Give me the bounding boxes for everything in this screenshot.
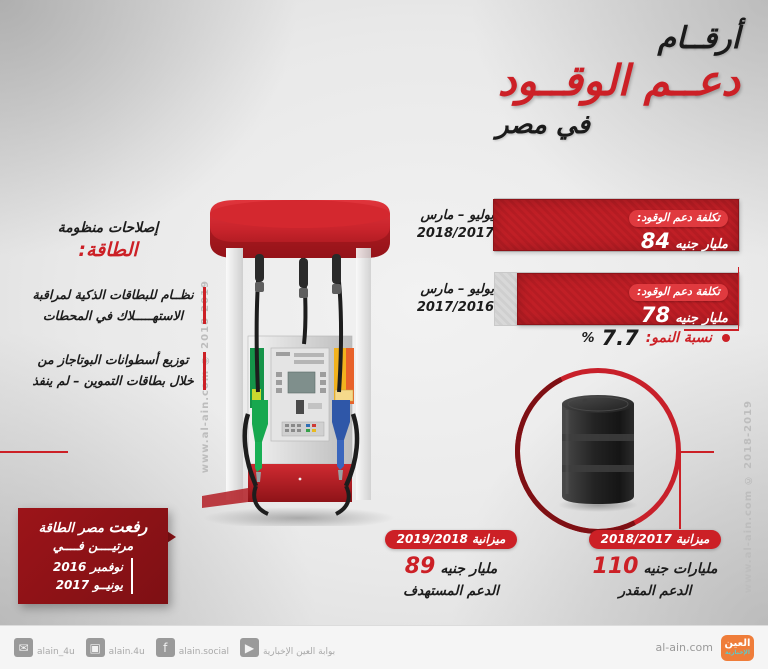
callout-date-1: نوفمبر 2016 [53, 558, 123, 576]
bar-value: 84 [641, 229, 670, 253]
callout-line-2: مرتيــــن فــــي [30, 538, 156, 553]
social-link-twitter[interactable]: ✉ alain_4u [14, 638, 75, 657]
figure-badge: ميزانية 2019/2018 [385, 530, 518, 549]
logo-sub-text: الإخبارية [725, 650, 750, 656]
brand-block: al-ain.com العين الإخبارية [655, 635, 754, 661]
growth-label: نسبة النمو: [646, 330, 712, 346]
circle-connector-right-horizontal [679, 451, 714, 453]
fuel-pump-illustration [196, 196, 402, 526]
title-line-2: دعــم الوقــود [496, 60, 740, 102]
bar-value-group: مليار جنيه 84 [494, 229, 728, 253]
growth-rate-group: نسبة النمو: 7.7 % [581, 326, 730, 350]
bar-period-months: يوليو – مارس [398, 207, 494, 225]
al-ain-logo[interactable]: العين الإخبارية [721, 635, 754, 661]
bar-fill: تكلفة دعم الوقود: مليار جنيه 78 [517, 273, 739, 325]
figure-value-group: مليار جنيه 89 [356, 554, 546, 579]
growth-value: 7.7 [602, 326, 639, 350]
callout-date-2: يونيــو 2017 [53, 576, 123, 594]
energy-reforms-sidebar: إصلاحات منظومة الطاقة: نظــام للبطاقات ا… [18, 220, 198, 392]
social-handle: alain.social [179, 647, 229, 657]
infographic-canvas: أرقــام دعــم الوقــود في مصر [0, 0, 768, 669]
figure-badge: ميزانية 2018/2017 [589, 530, 722, 549]
logo-main-text: العين [725, 639, 751, 649]
youtube-icon: ▶ [240, 638, 259, 657]
bar-unit: مليار جنيه [675, 237, 728, 252]
title-line-3: في مصر [496, 112, 590, 138]
growth-percent-sign: % [581, 331, 594, 346]
social-link-instagram[interactable]: ▣ alain.4u [86, 638, 145, 657]
bar-caption: تكلفة دعم الوقود: [629, 284, 728, 301]
bar-value: 78 [641, 303, 670, 327]
circle-connector-left [0, 451, 68, 453]
budget-figure-estimated: ميزانية 2018/2017 مليارات جنيه 110 الدعم… [560, 528, 750, 599]
callout-dates: نوفمبر 2016 يونيــو 2017 [53, 558, 133, 594]
figure-unit: مليار جنيه [440, 561, 497, 577]
bar-value-group: مليار جنيه 78 [518, 303, 728, 327]
bar-period-years: 2017/2016 [398, 299, 494, 317]
bar-track: تكلفة دعم الوقود: مليار جنيه 84 [494, 198, 740, 252]
bar-period-months: يوليو – مارس [398, 281, 494, 299]
callout-line-1-rest: مصر الطاقة [39, 521, 104, 536]
instagram-icon: ▣ [86, 638, 105, 657]
site-url[interactable]: al-ain.com [655, 641, 713, 654]
figure-value-group: مليارات جنيه 110 [560, 554, 750, 579]
bar-track: تكلفة دعم الوقود: مليار جنيه 78 [494, 272, 740, 326]
price-increase-callout: رفعت مصر الطاقة مرتيــــن فــــي نوفمبر … [18, 508, 168, 604]
growth-connector-vertical [738, 267, 739, 329]
callout-line-1-strong: رفعت [109, 517, 148, 536]
figure-unit: مليارات جنيه [644, 561, 718, 577]
growth-dot-icon [722, 334, 730, 342]
social-handle: بوابة العين الإخبارية [263, 647, 335, 657]
callout-line-1: رفعت مصر الطاقة [30, 516, 156, 538]
figure-caption: الدعم المقدر [560, 583, 750, 599]
bar-unit: مليار جنيه [675, 311, 728, 326]
facebook-icon: f [156, 638, 175, 657]
social-handle: alain.4u [109, 647, 145, 657]
budget-figure-targeted: ميزانية 2019/2018 مليار جنيه 89 الدعم ال… [356, 528, 546, 599]
bar-period-label: يوليو – مارس 2018/2017 [398, 207, 494, 242]
sidebar-item-smart-cards: نظــام للبطاقات الذكية لمراقبة الاستهـــ… [18, 285, 198, 326]
sidebar-item-text: نظــام للبطاقات الذكية لمراقبة الاستهـــ… [28, 285, 198, 326]
sidebar-item-rule [203, 287, 206, 324]
oil-barrel-icon [555, 390, 641, 512]
sidebar-heading-top: إصلاحات منظومة [18, 220, 198, 236]
social-handle: alain_4u [37, 647, 75, 657]
figure-value: 89 [405, 554, 436, 579]
figure-value: 110 [593, 554, 639, 579]
oil-barrel-group [515, 368, 681, 534]
figure-caption: الدعم المستهدف [356, 583, 546, 599]
social-links: ✉ alain_4u ▣ alain.4u f alain.social ▶ ب… [14, 638, 335, 657]
bar-fill: تكلفة دعم الوقود: مليار جنيه 84 [493, 199, 739, 251]
social-link-facebook[interactable]: f alain.social [156, 638, 229, 657]
sidebar-item-rule [203, 352, 206, 389]
sidebar-heading-bottom: الطاقة: [18, 239, 198, 261]
bar-period-years: 2018/2017 [398, 225, 494, 243]
bar-period-label: يوليو – مارس 2017/2016 [398, 281, 494, 316]
title-line-1: أرقــام [496, 24, 740, 54]
footer-bar: ✉ alain_4u ▣ alain.4u f alain.social ▶ ب… [0, 625, 768, 669]
sidebar-item-butane-cylinders: توزيع أسطوانات البوتاجاز من خلال بطاقات … [18, 350, 198, 391]
twitter-icon: ✉ [14, 638, 33, 657]
bar-row: يوليو – مارس 2017/2016 تكلفة دعم الوقود:… [388, 272, 740, 326]
sidebar-item-text: توزيع أسطوانات البوتاجاز من خلال بطاقات … [28, 350, 198, 391]
bar-caption: تكلفة دعم الوقود: [629, 210, 728, 227]
bar-row: يوليو – مارس 2018/2017 تكلفة دعم الوقود:… [388, 198, 740, 252]
page-title: أرقــام دعــم الوقــود في مصر [496, 24, 740, 138]
social-link-youtube[interactable]: ▶ بوابة العين الإخبارية [240, 638, 335, 657]
